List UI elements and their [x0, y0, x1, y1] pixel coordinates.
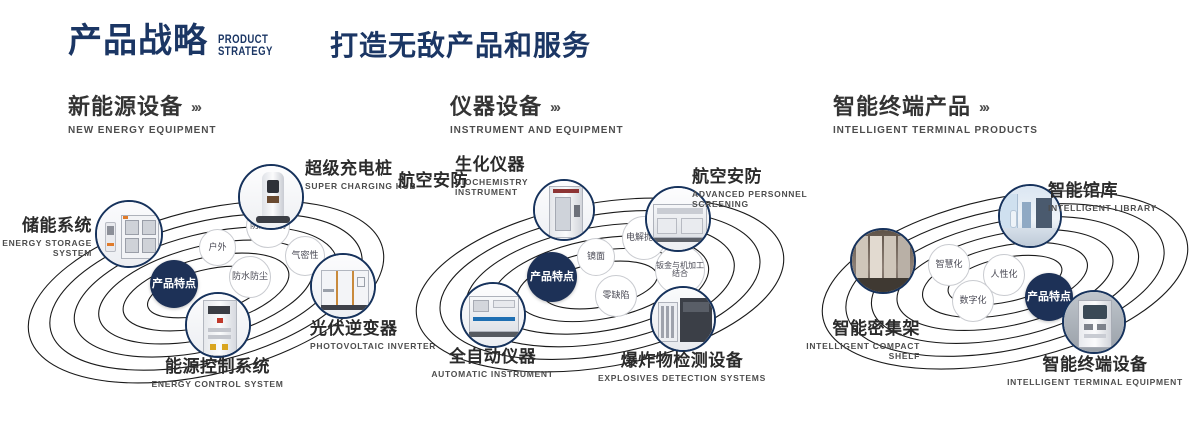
product-node-intelligent-terminal-equipment[interactable] [1062, 290, 1126, 354]
product-node-super-charging-hub[interactable] [238, 164, 304, 230]
feature-bubble: 防水防尘 [229, 256, 271, 298]
product-node-photovoltaic-inverter[interactable] [310, 253, 376, 319]
section-header-intelligent-terminal: 智能终端产品››› INTELLIGENT TERMINAL PRODUCTS [833, 96, 1038, 136]
core-badge-product-features: 产品特点 [527, 252, 577, 302]
page-title: 产品战略 PRODUCT STRATEGY [68, 24, 286, 58]
section-title-en: INSTRUMENT AND EQUIPMENT [450, 125, 623, 136]
chevrons-right-icon: ››› [191, 99, 200, 116]
product-node-intelligent-compact-shelf[interactable] [850, 228, 916, 294]
section-title-cn: 仪器设备 [450, 96, 542, 118]
product-label-automatic-instrument: 全自动仪器 AUTOMATIC INSTRUMENT [395, 348, 590, 379]
product-node-energy-control-system[interactable] [185, 292, 251, 358]
feature-bubble: 户外 [199, 229, 236, 266]
feature-bubble: 数字化 [952, 280, 994, 322]
page-subtitle: 打造无敌产品和服务 [330, 32, 591, 60]
cluster-new-energy: 产品特点 户外 防腐防锈 防水防尘 气密性 储能系统 ENERGY STORAG… [10, 160, 410, 420]
feature-bubble: 镜面 [577, 238, 615, 276]
feature-bubble: 智慧化 [928, 244, 970, 286]
product-node-energy-storage[interactable] [95, 200, 163, 268]
product-node-explosives-detection[interactable] [650, 286, 716, 352]
product-label-aviation-security-left: 航空安防 [358, 172, 468, 190]
section-header-instrument: 仪器设备››› INSTRUMENT AND EQUIPMENT [450, 96, 623, 136]
cluster-intelligent-terminal: 智慧化 人性化 数字化 产品特点 智能馆库 INTELLIGENT LIBRAR… [800, 160, 1200, 420]
feature-bubble: 零缺陷 [595, 275, 637, 317]
chevrons-right-icon: ››› [550, 99, 559, 116]
chevrons-right-icon: ››› [979, 99, 988, 116]
section-title-en: INTELLIGENT TERMINAL PRODUCTS [833, 125, 1038, 136]
section-title-cn: 新能源设备 [68, 96, 183, 118]
product-strategy-infographic: 产品战略 PRODUCT STRATEGY 打造无敌产品和服务 新能源设备›››… [0, 0, 1200, 422]
product-label-intelligent-terminal-equipment: 智能终端设备 INTELLIGENT TERMINAL EQUIPMENT [995, 356, 1195, 387]
page-title-en: PRODUCT STRATEGY [218, 33, 273, 57]
section-title-cn: 智能终端产品 [833, 96, 971, 118]
product-label-energy-storage: 储能系统 ENERGY STORAGE SYSTEM [2, 217, 92, 259]
product-label-intelligent-library: 智能馆库 INTELLIGENT LIBRARY [1048, 182, 1200, 213]
product-label-biochemistry-instrument: 生化仪器 BIOCHEMISTRY INSTRUMENT [455, 156, 585, 198]
cluster-instrument: 产品特点 镜面 电解抛光 钣金与机加工结合 零缺陷 生化仪器 BIOCHEMIS… [400, 160, 800, 420]
product-label-energy-control-system: 能源控制系统 ENERGY CONTROL SYSTEM [85, 358, 350, 389]
product-label-intelligent-compact-shelf: 智能密集架 INTELLIGENT COMPACT SHELF [720, 320, 920, 362]
product-node-automatic-instrument[interactable] [460, 282, 526, 348]
page-title-cn: 产品战略 [68, 24, 208, 58]
section-header-new-energy: 新能源设备››› NEW ENERGY EQUIPMENT [68, 96, 216, 136]
section-title-en: NEW ENERGY EQUIPMENT [68, 125, 216, 136]
